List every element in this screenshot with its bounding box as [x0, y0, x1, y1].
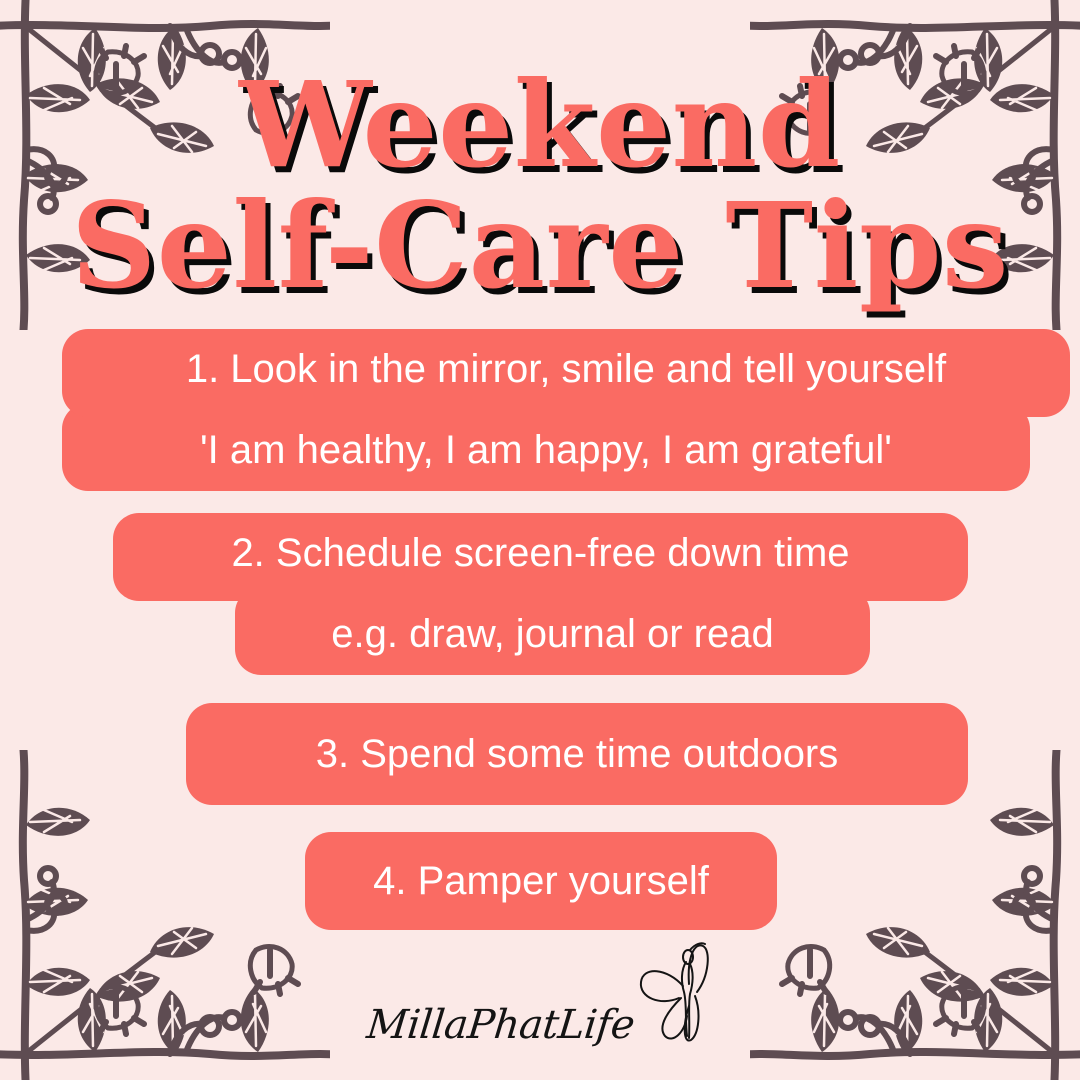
poster-title: Weekend Self-Care Tips	[0, 68, 1080, 303]
title-line-1: Weekend	[0, 68, 1080, 181]
tip-1-line-1: 1. Look in the mirror, smile and tell yo…	[62, 329, 1070, 417]
logo-wordmark: MillaPhatLife	[365, 1005, 636, 1045]
self-care-tips-poster: Weekend Self-Care Tips 1. Look in the mi…	[0, 0, 1080, 1080]
tip-2-line-1: 2. Schedule screen-free down time	[113, 513, 968, 601]
tip-item-1: 1. Look in the mirror, smile and tell yo…	[0, 329, 1080, 491]
brand-logo: MillaPhatLife	[0, 940, 1080, 1053]
tip-item-4: 4. Pamper yourself	[305, 832, 777, 930]
tip-item-2: 2. Schedule screen-free down time e.g. d…	[0, 513, 1080, 675]
title-line-2: Self-Care Tips	[0, 189, 1080, 302]
tip-4-line-1: 4. Pamper yourself	[305, 832, 777, 930]
tip-item-3: 3. Spend some time outdoors	[186, 703, 968, 805]
butterfly-woman-icon	[639, 940, 713, 1053]
tip-3-line-1: 3. Spend some time outdoors	[186, 703, 968, 805]
